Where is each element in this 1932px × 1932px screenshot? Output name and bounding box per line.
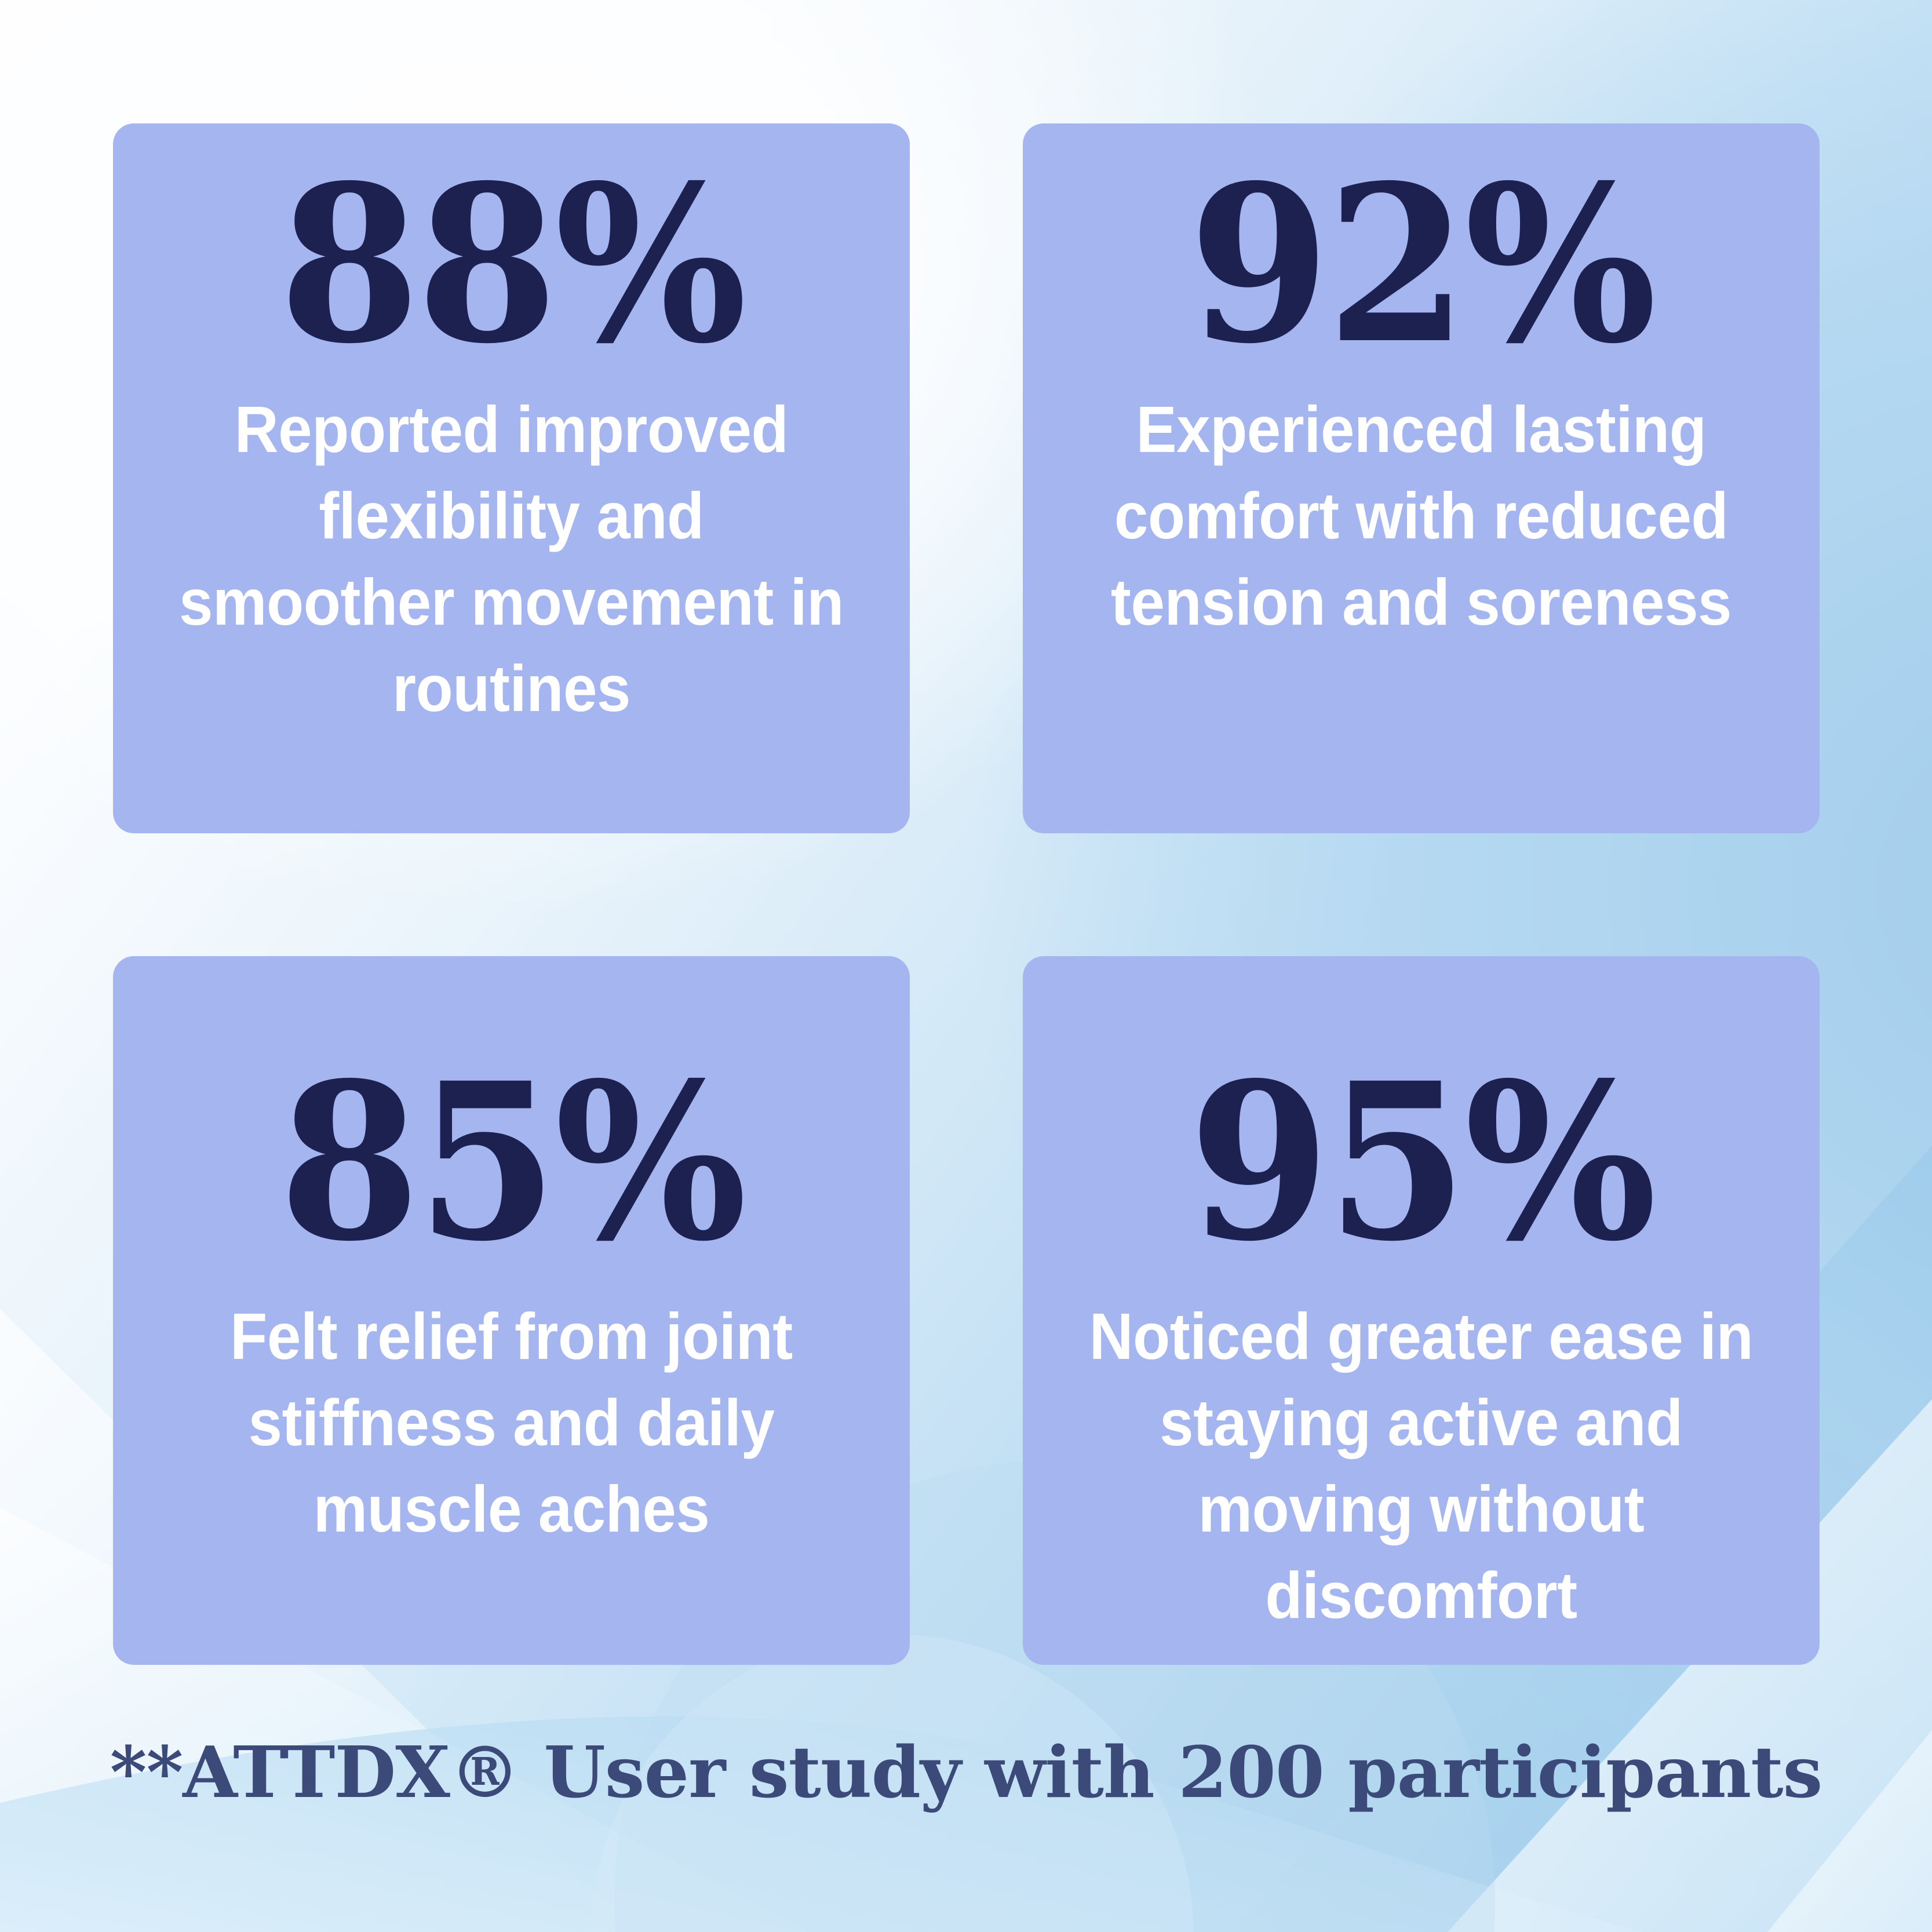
stat-value-88: 88%	[279, 157, 744, 373]
stat-card-joint-relief: 85% Felt relief from joint stiffness and…	[113, 956, 910, 1665]
stat-card-comfort: 92% Experienced lasting comfort with red…	[1023, 123, 1820, 833]
stat-card-grid: 88% Reported improved flexibility and sm…	[113, 123, 1820, 1665]
stat-value-92: 92%	[1189, 157, 1654, 373]
stat-card-flexibility: 88% Reported improved flexibility and sm…	[113, 123, 910, 833]
stat-card-mobility: 95% Noticed greater ease in staying acti…	[1023, 956, 1820, 1665]
study-footnote: **ATTDX® User study with 200 participant…	[0, 1730, 1932, 1814]
stat-value-95: 95%	[1189, 1055, 1654, 1270]
infographic-canvas: 88% Reported improved flexibility and sm…	[0, 0, 1932, 1932]
stat-description-mobility: Noticed greater ease in staying active a…	[1083, 1293, 1759, 1639]
stat-value-85: 85%	[279, 1055, 744, 1270]
stat-description-comfort: Experienced lasting comfort with reduced…	[1083, 387, 1759, 646]
stat-description-joint-relief: Felt relief from joint stiffness and dai…	[173, 1293, 850, 1552]
stat-description-flexibility: Reported improved flexibility and smooth…	[173, 387, 850, 732]
